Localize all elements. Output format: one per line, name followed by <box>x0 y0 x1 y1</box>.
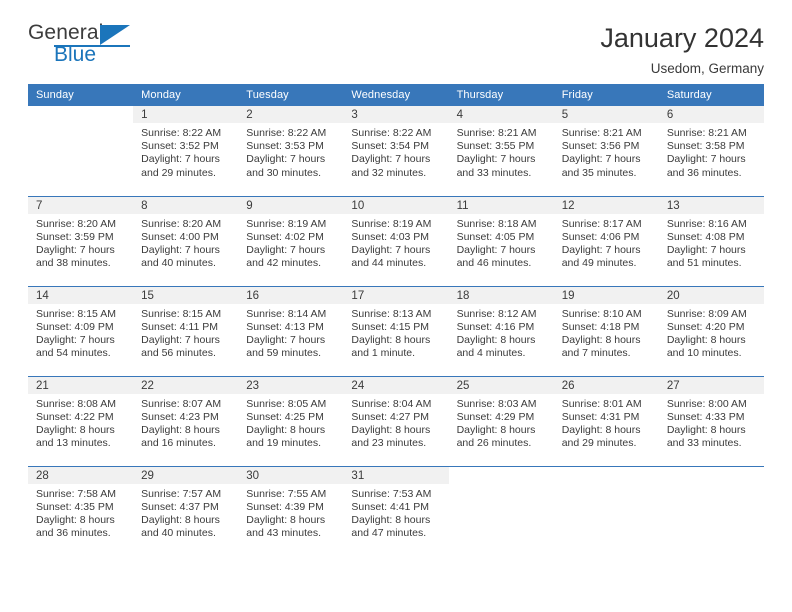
day-detail-daylight1: Daylight: 8 hours <box>562 334 655 347</box>
calendar-day-cell[interactable]: 31Sunrise: 7:53 AMSunset: 4:41 PMDayligh… <box>343 466 448 556</box>
day-detail-daylight1: Daylight: 8 hours <box>667 424 760 437</box>
day-number <box>554 467 659 484</box>
day-detail-daylight1: Daylight: 7 hours <box>457 153 550 166</box>
day-detail-daylight1: Daylight: 7 hours <box>246 153 339 166</box>
day-detail-daylight2: and 59 minutes. <box>246 347 339 360</box>
weekday-header-tuesday: Tuesday <box>238 84 343 106</box>
day-detail-daylight2: and 29 minutes. <box>141 167 234 180</box>
day-cell-inner: 24Sunrise: 8:04 AMSunset: 4:27 PMDayligh… <box>343 377 448 466</box>
day-detail-daylight2: and 51 minutes. <box>667 257 760 270</box>
day-details: Sunrise: 8:20 AMSunset: 4:00 PMDaylight:… <box>133 214 238 271</box>
brand-triangle-icon <box>100 25 130 45</box>
brand-name-blue: Blue <box>54 44 148 65</box>
day-detail-sunset: Sunset: 4:41 PM <box>351 501 444 514</box>
day-detail-daylight1: Daylight: 7 hours <box>141 334 234 347</box>
day-detail-sunrise: Sunrise: 7:57 AM <box>141 488 234 501</box>
calendar-day-cell[interactable]: 15Sunrise: 8:15 AMSunset: 4:11 PMDayligh… <box>133 286 238 376</box>
day-detail-sunrise: Sunrise: 8:17 AM <box>562 218 655 231</box>
day-detail-daylight2: and 42 minutes. <box>246 257 339 270</box>
day-cell-inner: 27Sunrise: 8:00 AMSunset: 4:33 PMDayligh… <box>659 377 764 466</box>
day-cell-inner <box>659 467 764 556</box>
day-cell-inner <box>449 467 554 556</box>
day-detail-daylight1: Daylight: 8 hours <box>457 424 550 437</box>
day-cell-inner: 23Sunrise: 8:05 AMSunset: 4:25 PMDayligh… <box>238 377 343 466</box>
day-detail-sunset: Sunset: 4:00 PM <box>141 231 234 244</box>
day-cell-inner: 28Sunrise: 7:58 AMSunset: 4:35 PMDayligh… <box>28 467 133 556</box>
calendar-week-row: 7Sunrise: 8:20 AMSunset: 3:59 PMDaylight… <box>28 196 764 286</box>
day-cell-inner: 20Sunrise: 8:09 AMSunset: 4:20 PMDayligh… <box>659 287 764 376</box>
calendar-day-cell[interactable]: 28Sunrise: 7:58 AMSunset: 4:35 PMDayligh… <box>28 466 133 556</box>
day-detail-sunrise: Sunrise: 8:21 AM <box>667 127 760 140</box>
day-number: 9 <box>238 197 343 214</box>
day-detail-sunset: Sunset: 4:02 PM <box>246 231 339 244</box>
day-cell-inner: 12Sunrise: 8:17 AMSunset: 4:06 PMDayligh… <box>554 197 659 286</box>
day-details: Sunrise: 8:07 AMSunset: 4:23 PMDaylight:… <box>133 394 238 451</box>
day-detail-sunrise: Sunrise: 8:05 AM <box>246 398 339 411</box>
weekday-header-monday: Monday <box>133 84 238 106</box>
calendar-week-row: 1Sunrise: 8:22 AMSunset: 3:52 PMDaylight… <box>28 106 764 196</box>
calendar-day-cell[interactable]: 11Sunrise: 8:18 AMSunset: 4:05 PMDayligh… <box>449 196 554 286</box>
calendar-day-cell[interactable]: 9Sunrise: 8:19 AMSunset: 4:02 PMDaylight… <box>238 196 343 286</box>
day-number: 16 <box>238 287 343 304</box>
day-number: 6 <box>659 106 764 123</box>
location-subtitle: Usedom, Germany <box>600 61 764 76</box>
calendar-day-cell[interactable]: 6Sunrise: 8:21 AMSunset: 3:58 PMDaylight… <box>659 106 764 196</box>
day-detail-sunrise: Sunrise: 8:16 AM <box>667 218 760 231</box>
day-number: 26 <box>554 377 659 394</box>
day-detail-daylight2: and 19 minutes. <box>246 437 339 450</box>
brand-logo[interactable]: General Blue <box>28 22 148 74</box>
day-detail-daylight1: Daylight: 7 hours <box>562 244 655 257</box>
calendar-week-row: 14Sunrise: 8:15 AMSunset: 4:09 PMDayligh… <box>28 286 764 376</box>
day-number: 23 <box>238 377 343 394</box>
calendar-day-cell[interactable]: 26Sunrise: 8:01 AMSunset: 4:31 PMDayligh… <box>554 376 659 466</box>
day-cell-inner: 26Sunrise: 8:01 AMSunset: 4:31 PMDayligh… <box>554 377 659 466</box>
day-detail-daylight2: and 35 minutes. <box>562 167 655 180</box>
day-detail-sunset: Sunset: 4:20 PM <box>667 321 760 334</box>
day-detail-daylight1: Daylight: 8 hours <box>141 514 234 527</box>
day-cell-inner: 21Sunrise: 8:08 AMSunset: 4:22 PMDayligh… <box>28 377 133 466</box>
day-detail-sunrise: Sunrise: 8:10 AM <box>562 308 655 321</box>
day-number: 15 <box>133 287 238 304</box>
day-detail-daylight2: and 56 minutes. <box>141 347 234 360</box>
weekday-header-thursday: Thursday <box>449 84 554 106</box>
calendar-day-cell[interactable]: 16Sunrise: 8:14 AMSunset: 4:13 PMDayligh… <box>238 286 343 376</box>
day-number: 27 <box>659 377 764 394</box>
day-number: 28 <box>28 467 133 484</box>
day-detail-sunrise: Sunrise: 8:09 AM <box>667 308 760 321</box>
day-detail-sunrise: Sunrise: 8:15 AM <box>141 308 234 321</box>
calendar-day-cell[interactable]: 10Sunrise: 8:19 AMSunset: 4:03 PMDayligh… <box>343 196 448 286</box>
calendar-day-cell[interactable]: 22Sunrise: 8:07 AMSunset: 4:23 PMDayligh… <box>133 376 238 466</box>
day-detail-sunrise: Sunrise: 7:53 AM <box>351 488 444 501</box>
calendar-day-cell[interactable]: 3Sunrise: 8:22 AMSunset: 3:54 PMDaylight… <box>343 106 448 196</box>
day-detail-daylight2: and 36 minutes. <box>667 167 760 180</box>
day-detail-daylight1: Daylight: 8 hours <box>36 514 129 527</box>
day-detail-sunset: Sunset: 3:58 PM <box>667 140 760 153</box>
day-cell-inner: 2Sunrise: 8:22 AMSunset: 3:53 PMDaylight… <box>238 106 343 195</box>
day-number: 12 <box>554 197 659 214</box>
day-detail-daylight2: and 33 minutes. <box>667 437 760 450</box>
weekday-header-sunday: Sunday <box>28 84 133 106</box>
day-number: 14 <box>28 287 133 304</box>
day-detail-sunset: Sunset: 3:52 PM <box>141 140 234 153</box>
day-cell-inner: 6Sunrise: 8:21 AMSunset: 3:58 PMDaylight… <box>659 106 764 195</box>
calendar-day-cell[interactable]: 29Sunrise: 7:57 AMSunset: 4:37 PMDayligh… <box>133 466 238 556</box>
day-details: Sunrise: 8:21 AMSunset: 3:56 PMDaylight:… <box>554 123 659 180</box>
day-detail-daylight2: and 1 minute. <box>351 347 444 360</box>
day-detail-daylight2: and 43 minutes. <box>246 527 339 540</box>
day-cell-inner: 8Sunrise: 8:20 AMSunset: 4:00 PMDaylight… <box>133 197 238 286</box>
day-details: Sunrise: 8:14 AMSunset: 4:13 PMDaylight:… <box>238 304 343 361</box>
day-detail-sunset: Sunset: 4:33 PM <box>667 411 760 424</box>
day-detail-sunset: Sunset: 4:35 PM <box>36 501 129 514</box>
day-detail-daylight1: Daylight: 7 hours <box>246 244 339 257</box>
day-detail-sunrise: Sunrise: 8:22 AM <box>141 127 234 140</box>
calendar-day-cell[interactable]: 13Sunrise: 8:16 AMSunset: 4:08 PMDayligh… <box>659 196 764 286</box>
calendar-day-cell[interactable]: 5Sunrise: 8:21 AMSunset: 3:56 PMDaylight… <box>554 106 659 196</box>
day-cell-inner: 13Sunrise: 8:16 AMSunset: 4:08 PMDayligh… <box>659 197 764 286</box>
day-detail-sunrise: Sunrise: 8:21 AM <box>562 127 655 140</box>
day-details: Sunrise: 8:15 AMSunset: 4:09 PMDaylight:… <box>28 304 133 361</box>
day-detail-daylight1: Daylight: 7 hours <box>36 334 129 347</box>
day-detail-daylight1: Daylight: 8 hours <box>457 334 550 347</box>
calendar-day-cell-empty <box>28 106 133 196</box>
day-details: Sunrise: 7:55 AMSunset: 4:39 PMDaylight:… <box>238 484 343 541</box>
day-detail-daylight1: Daylight: 7 hours <box>667 153 760 166</box>
day-cell-inner <box>554 467 659 556</box>
day-number: 21 <box>28 377 133 394</box>
day-detail-daylight2: and 29 minutes. <box>562 437 655 450</box>
day-cell-inner <box>28 106 133 195</box>
day-detail-daylight1: Daylight: 7 hours <box>141 153 234 166</box>
calendar-page: General Blue January 2024 Usedom, German… <box>0 0 792 612</box>
day-detail-sunrise: Sunrise: 8:13 AM <box>351 308 444 321</box>
day-detail-sunrise: Sunrise: 8:20 AM <box>36 218 129 231</box>
weekday-header-saturday: Saturday <box>659 84 764 106</box>
calendar-day-cell[interactable]: 25Sunrise: 8:03 AMSunset: 4:29 PMDayligh… <box>449 376 554 466</box>
day-detail-sunset: Sunset: 3:55 PM <box>457 140 550 153</box>
day-detail-sunset: Sunset: 4:03 PM <box>351 231 444 244</box>
calendar-day-cell-empty <box>659 466 764 556</box>
day-cell-inner: 7Sunrise: 8:20 AMSunset: 3:59 PMDaylight… <box>28 197 133 286</box>
day-detail-sunset: Sunset: 4:06 PM <box>562 231 655 244</box>
day-details: Sunrise: 8:15 AMSunset: 4:11 PMDaylight:… <box>133 304 238 361</box>
day-detail-sunset: Sunset: 4:11 PM <box>141 321 234 334</box>
day-detail-sunset: Sunset: 4:39 PM <box>246 501 339 514</box>
day-number: 1 <box>133 106 238 123</box>
day-detail-sunset: Sunset: 4:09 PM <box>36 321 129 334</box>
day-detail-sunrise: Sunrise: 8:15 AM <box>36 308 129 321</box>
day-detail-sunrise: Sunrise: 8:04 AM <box>351 398 444 411</box>
day-number: 20 <box>659 287 764 304</box>
day-detail-daylight1: Daylight: 8 hours <box>351 424 444 437</box>
day-cell-inner: 16Sunrise: 8:14 AMSunset: 4:13 PMDayligh… <box>238 287 343 376</box>
day-cell-inner: 15Sunrise: 8:15 AMSunset: 4:11 PMDayligh… <box>133 287 238 376</box>
day-detail-daylight2: and 23 minutes. <box>351 437 444 450</box>
day-detail-sunset: Sunset: 4:31 PM <box>562 411 655 424</box>
calendar-day-cell[interactable]: 23Sunrise: 8:05 AMSunset: 4:25 PMDayligh… <box>238 376 343 466</box>
day-detail-daylight1: Daylight: 8 hours <box>351 334 444 347</box>
day-detail-sunrise: Sunrise: 8:03 AM <box>457 398 550 411</box>
day-detail-daylight2: and 13 minutes. <box>36 437 129 450</box>
day-number: 22 <box>133 377 238 394</box>
day-detail-sunset: Sunset: 4:18 PM <box>562 321 655 334</box>
day-detail-daylight2: and 36 minutes. <box>36 527 129 540</box>
calendar-day-cell[interactable]: 17Sunrise: 8:13 AMSunset: 4:15 PMDayligh… <box>343 286 448 376</box>
weekday-header-row: Sunday Monday Tuesday Wednesday Thursday… <box>28 84 764 106</box>
calendar-day-cell[interactable]: 7Sunrise: 8:20 AMSunset: 3:59 PMDaylight… <box>28 196 133 286</box>
calendar-body: 1Sunrise: 8:22 AMSunset: 3:52 PMDaylight… <box>28 106 764 556</box>
day-detail-daylight2: and 38 minutes. <box>36 257 129 270</box>
day-detail-sunrise: Sunrise: 8:14 AM <box>246 308 339 321</box>
day-detail-sunrise: Sunrise: 8:01 AM <box>562 398 655 411</box>
day-detail-daylight2: and 40 minutes. <box>141 527 234 540</box>
day-detail-sunrise: Sunrise: 8:22 AM <box>246 127 339 140</box>
day-number: 31 <box>343 467 448 484</box>
calendar-day-cell-empty <box>449 466 554 556</box>
brand-name-general: General <box>28 22 148 43</box>
day-number: 24 <box>343 377 448 394</box>
calendar-day-cell[interactable]: 24Sunrise: 8:04 AMSunset: 4:27 PMDayligh… <box>343 376 448 466</box>
brand-underline <box>54 45 130 47</box>
day-detail-sunrise: Sunrise: 7:55 AM <box>246 488 339 501</box>
calendar-day-cell[interactable]: 30Sunrise: 7:55 AMSunset: 4:39 PMDayligh… <box>238 466 343 556</box>
day-cell-inner: 25Sunrise: 8:03 AMSunset: 4:29 PMDayligh… <box>449 377 554 466</box>
day-number: 2 <box>238 106 343 123</box>
calendar-day-cell[interactable]: 2Sunrise: 8:22 AMSunset: 3:53 PMDaylight… <box>238 106 343 196</box>
calendar-day-cell[interactable]: 12Sunrise: 8:17 AMSunset: 4:06 PMDayligh… <box>554 196 659 286</box>
calendar-day-cell[interactable]: 14Sunrise: 8:15 AMSunset: 4:09 PMDayligh… <box>28 286 133 376</box>
calendar-day-cell[interactable]: 18Sunrise: 8:12 AMSunset: 4:16 PMDayligh… <box>449 286 554 376</box>
day-detail-sunrise: Sunrise: 8:22 AM <box>351 127 444 140</box>
day-detail-daylight2: and 54 minutes. <box>36 347 129 360</box>
calendar-week-row: 21Sunrise: 8:08 AMSunset: 4:22 PMDayligh… <box>28 376 764 466</box>
day-details: Sunrise: 8:21 AMSunset: 3:55 PMDaylight:… <box>449 123 554 180</box>
calendar-day-cell[interactable]: 21Sunrise: 8:08 AMSunset: 4:22 PMDayligh… <box>28 376 133 466</box>
day-detail-sunset: Sunset: 4:37 PM <box>141 501 234 514</box>
day-cell-inner: 22Sunrise: 8:07 AMSunset: 4:23 PMDayligh… <box>133 377 238 466</box>
day-details: Sunrise: 7:53 AMSunset: 4:41 PMDaylight:… <box>343 484 448 541</box>
day-details: Sunrise: 8:22 AMSunset: 3:52 PMDaylight:… <box>133 123 238 180</box>
day-detail-sunrise: Sunrise: 8:00 AM <box>667 398 760 411</box>
day-detail-daylight1: Daylight: 7 hours <box>351 153 444 166</box>
day-detail-sunrise: Sunrise: 8:19 AM <box>351 218 444 231</box>
weekday-header-wednesday: Wednesday <box>343 84 448 106</box>
day-details: Sunrise: 8:00 AMSunset: 4:33 PMDaylight:… <box>659 394 764 451</box>
day-cell-inner: 19Sunrise: 8:10 AMSunset: 4:18 PMDayligh… <box>554 287 659 376</box>
day-number: 7 <box>28 197 133 214</box>
day-number: 30 <box>238 467 343 484</box>
day-details: Sunrise: 8:22 AMSunset: 3:53 PMDaylight:… <box>238 123 343 180</box>
day-details: Sunrise: 8:18 AMSunset: 4:05 PMDaylight:… <box>449 214 554 271</box>
day-detail-sunset: Sunset: 4:23 PM <box>141 411 234 424</box>
day-detail-daylight2: and 44 minutes. <box>351 257 444 270</box>
day-cell-inner: 30Sunrise: 7:55 AMSunset: 4:39 PMDayligh… <box>238 467 343 556</box>
day-detail-sunrise: Sunrise: 8:18 AM <box>457 218 550 231</box>
day-detail-sunrise: Sunrise: 8:12 AM <box>457 308 550 321</box>
page-header: General Blue January 2024 Usedom, German… <box>28 0 764 76</box>
day-detail-daylight2: and 16 minutes. <box>141 437 234 450</box>
sunrise-sunset-calendar-table: Sunday Monday Tuesday Wednesday Thursday… <box>28 84 764 556</box>
day-details: Sunrise: 8:10 AMSunset: 4:18 PMDaylight:… <box>554 304 659 361</box>
day-detail-daylight2: and 47 minutes. <box>351 527 444 540</box>
day-detail-sunset: Sunset: 4:25 PM <box>246 411 339 424</box>
day-number: 8 <box>133 197 238 214</box>
day-detail-sunset: Sunset: 4:27 PM <box>351 411 444 424</box>
day-detail-sunset: Sunset: 4:13 PM <box>246 321 339 334</box>
day-details: Sunrise: 8:22 AMSunset: 3:54 PMDaylight:… <box>343 123 448 180</box>
day-cell-inner: 3Sunrise: 8:22 AMSunset: 3:54 PMDaylight… <box>343 106 448 195</box>
day-detail-daylight1: Daylight: 8 hours <box>141 424 234 437</box>
day-detail-daylight2: and 46 minutes. <box>457 257 550 270</box>
day-number <box>28 106 133 123</box>
day-cell-inner: 29Sunrise: 7:57 AMSunset: 4:37 PMDayligh… <box>133 467 238 556</box>
day-detail-daylight2: and 4 minutes. <box>457 347 550 360</box>
day-details: Sunrise: 8:13 AMSunset: 4:15 PMDaylight:… <box>343 304 448 361</box>
day-number: 18 <box>449 287 554 304</box>
day-detail-sunset: Sunset: 4:16 PM <box>457 321 550 334</box>
day-number: 10 <box>343 197 448 214</box>
page-title: January 2024 <box>600 24 764 54</box>
day-detail-daylight1: Daylight: 8 hours <box>351 514 444 527</box>
day-number <box>659 467 764 484</box>
day-details: Sunrise: 8:16 AMSunset: 4:08 PMDaylight:… <box>659 214 764 271</box>
day-detail-daylight1: Daylight: 8 hours <box>36 424 129 437</box>
day-cell-inner: 18Sunrise: 8:12 AMSunset: 4:16 PMDayligh… <box>449 287 554 376</box>
day-details: Sunrise: 8:03 AMSunset: 4:29 PMDaylight:… <box>449 394 554 451</box>
day-cell-inner: 31Sunrise: 7:53 AMSunset: 4:41 PMDayligh… <box>343 467 448 556</box>
day-details: Sunrise: 7:57 AMSunset: 4:37 PMDaylight:… <box>133 484 238 541</box>
day-detail-sunset: Sunset: 3:54 PM <box>351 140 444 153</box>
day-detail-daylight1: Daylight: 7 hours <box>351 244 444 257</box>
day-detail-sunset: Sunset: 4:15 PM <box>351 321 444 334</box>
calendar-day-cell[interactable]: 1Sunrise: 8:22 AMSunset: 3:52 PMDaylight… <box>133 106 238 196</box>
calendar-day-cell[interactable]: 4Sunrise: 8:21 AMSunset: 3:55 PMDaylight… <box>449 106 554 196</box>
day-cell-inner: 14Sunrise: 8:15 AMSunset: 4:09 PMDayligh… <box>28 287 133 376</box>
day-detail-daylight2: and 40 minutes. <box>141 257 234 270</box>
day-detail-daylight1: Daylight: 7 hours <box>457 244 550 257</box>
day-details: Sunrise: 8:20 AMSunset: 3:59 PMDaylight:… <box>28 214 133 271</box>
day-detail-sunset: Sunset: 3:53 PM <box>246 140 339 153</box>
day-number: 13 <box>659 197 764 214</box>
day-number: 3 <box>343 106 448 123</box>
day-details: Sunrise: 8:05 AMSunset: 4:25 PMDaylight:… <box>238 394 343 451</box>
day-detail-sunset: Sunset: 4:22 PM <box>36 411 129 424</box>
day-number: 25 <box>449 377 554 394</box>
day-details: Sunrise: 8:12 AMSunset: 4:16 PMDaylight:… <box>449 304 554 361</box>
calendar-day-cell-empty <box>554 466 659 556</box>
day-details: Sunrise: 8:19 AMSunset: 4:03 PMDaylight:… <box>343 214 448 271</box>
title-block: January 2024 Usedom, Germany <box>600 22 764 76</box>
day-details: Sunrise: 8:09 AMSunset: 4:20 PMDaylight:… <box>659 304 764 361</box>
day-detail-daylight1: Daylight: 8 hours <box>246 514 339 527</box>
day-cell-inner: 11Sunrise: 8:18 AMSunset: 4:05 PMDayligh… <box>449 197 554 286</box>
day-detail-daylight1: Daylight: 7 hours <box>246 334 339 347</box>
day-number: 5 <box>554 106 659 123</box>
day-number: 29 <box>133 467 238 484</box>
day-cell-inner: 9Sunrise: 8:19 AMSunset: 4:02 PMDaylight… <box>238 197 343 286</box>
day-detail-daylight2: and 33 minutes. <box>457 167 550 180</box>
day-details: Sunrise: 8:21 AMSunset: 3:58 PMDaylight:… <box>659 123 764 180</box>
day-details: Sunrise: 8:19 AMSunset: 4:02 PMDaylight:… <box>238 214 343 271</box>
day-cell-inner: 10Sunrise: 8:19 AMSunset: 4:03 PMDayligh… <box>343 197 448 286</box>
day-number: 11 <box>449 197 554 214</box>
calendar-day-cell[interactable]: 8Sunrise: 8:20 AMSunset: 4:00 PMDaylight… <box>133 196 238 286</box>
calendar-day-cell[interactable]: 19Sunrise: 8:10 AMSunset: 4:18 PMDayligh… <box>554 286 659 376</box>
day-detail-sunset: Sunset: 4:08 PM <box>667 231 760 244</box>
day-detail-sunset: Sunset: 3:59 PM <box>36 231 129 244</box>
weekday-header-friday: Friday <box>554 84 659 106</box>
day-number: 17 <box>343 287 448 304</box>
day-cell-inner: 5Sunrise: 8:21 AMSunset: 3:56 PMDaylight… <box>554 106 659 195</box>
day-number <box>449 467 554 484</box>
day-details: Sunrise: 8:01 AMSunset: 4:31 PMDaylight:… <box>554 394 659 451</box>
day-cell-inner: 17Sunrise: 8:13 AMSunset: 4:15 PMDayligh… <box>343 287 448 376</box>
day-detail-daylight1: Daylight: 8 hours <box>246 424 339 437</box>
day-detail-daylight2: and 32 minutes. <box>351 167 444 180</box>
day-detail-daylight1: Daylight: 8 hours <box>562 424 655 437</box>
day-details: Sunrise: 8:08 AMSunset: 4:22 PMDaylight:… <box>28 394 133 451</box>
day-detail-sunset: Sunset: 4:29 PM <box>457 411 550 424</box>
day-detail-daylight2: and 30 minutes. <box>246 167 339 180</box>
calendar-week-row: 28Sunrise: 7:58 AMSunset: 4:35 PMDayligh… <box>28 466 764 556</box>
day-cell-inner: 4Sunrise: 8:21 AMSunset: 3:55 PMDaylight… <box>449 106 554 195</box>
day-detail-sunrise: Sunrise: 8:21 AM <box>457 127 550 140</box>
day-number: 4 <box>449 106 554 123</box>
day-detail-sunrise: Sunrise: 8:07 AM <box>141 398 234 411</box>
day-details: Sunrise: 8:04 AMSunset: 4:27 PMDaylight:… <box>343 394 448 451</box>
day-cell-inner: 1Sunrise: 8:22 AMSunset: 3:52 PMDaylight… <box>133 106 238 195</box>
day-detail-daylight1: Daylight: 8 hours <box>667 334 760 347</box>
day-detail-sunset: Sunset: 3:56 PM <box>562 140 655 153</box>
day-details: Sunrise: 8:17 AMSunset: 4:06 PMDaylight:… <box>554 214 659 271</box>
day-detail-daylight1: Daylight: 7 hours <box>141 244 234 257</box>
day-detail-daylight1: Daylight: 7 hours <box>36 244 129 257</box>
day-detail-daylight1: Daylight: 7 hours <box>667 244 760 257</box>
day-detail-daylight2: and 49 minutes. <box>562 257 655 270</box>
day-detail-daylight2: and 10 minutes. <box>667 347 760 360</box>
day-detail-sunrise: Sunrise: 8:20 AM <box>141 218 234 231</box>
day-detail-sunrise: Sunrise: 7:58 AM <box>36 488 129 501</box>
day-detail-daylight1: Daylight: 7 hours <box>562 153 655 166</box>
day-number: 19 <box>554 287 659 304</box>
day-detail-daylight2: and 7 minutes. <box>562 347 655 360</box>
day-detail-sunrise: Sunrise: 8:19 AM <box>246 218 339 231</box>
day-details: Sunrise: 7:58 AMSunset: 4:35 PMDaylight:… <box>28 484 133 541</box>
calendar-day-cell[interactable]: 20Sunrise: 8:09 AMSunset: 4:20 PMDayligh… <box>659 286 764 376</box>
calendar-day-cell[interactable]: 27Sunrise: 8:00 AMSunset: 4:33 PMDayligh… <box>659 376 764 466</box>
day-detail-daylight2: and 26 minutes. <box>457 437 550 450</box>
day-detail-sunset: Sunset: 4:05 PM <box>457 231 550 244</box>
day-detail-sunrise: Sunrise: 8:08 AM <box>36 398 129 411</box>
